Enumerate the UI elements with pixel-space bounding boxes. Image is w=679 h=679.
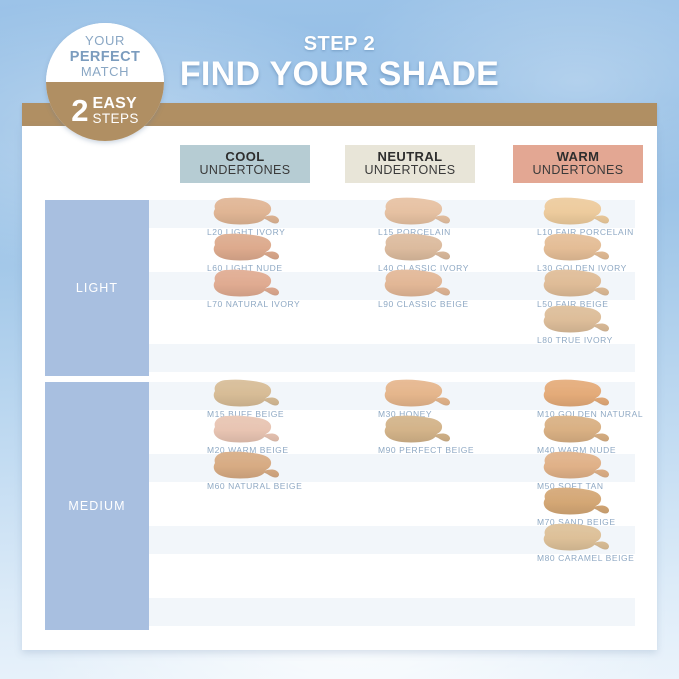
shade-swatch-icon — [378, 414, 464, 444]
shade-cell[interactable]: L40 CLASSIC IVORY — [378, 232, 538, 273]
undertone-header-title: NEUTRAL — [378, 150, 443, 164]
undertone-header-title: WARM — [557, 150, 600, 164]
shade-swatch-icon — [537, 232, 623, 262]
badge-your: YOUR — [85, 34, 125, 49]
category-block-light: LIGHT — [45, 200, 149, 376]
shade-swatch-icon — [537, 268, 623, 298]
shade-swatch-icon — [537, 304, 623, 334]
shade-cell[interactable]: L70 NATURAL IVORY — [207, 268, 367, 309]
shade-cell[interactable]: L60 LIGHT NUDE — [207, 232, 367, 273]
shade-cell[interactable]: L10 FAIR PORCELAIN — [537, 196, 679, 237]
shade-swatch-icon — [207, 378, 293, 408]
shade-cell[interactable]: M80 CARAMEL BEIGE — [537, 522, 679, 563]
undertone-header-cool: COOLUNDERTONES — [180, 145, 310, 183]
shade-swatch-icon — [537, 414, 623, 444]
badge-perfect: PERFECT — [70, 49, 140, 65]
badge-top: YOUR PERFECT MATCH — [46, 23, 164, 82]
shade-swatch-icon — [378, 268, 464, 298]
shade-cell[interactable]: M15 BUFF BEIGE — [207, 378, 367, 419]
shade-swatch-icon — [378, 196, 464, 226]
shade-cell[interactable]: L50 FAIR BEIGE — [537, 268, 679, 309]
shade-cell[interactable]: L80 TRUE IVORY — [537, 304, 679, 345]
shade-swatch-icon — [207, 414, 293, 444]
shade-swatch-icon — [207, 196, 293, 226]
undertone-header-warm: WARMUNDERTONES — [513, 145, 643, 183]
shade-swatch-icon — [207, 268, 293, 298]
shade-cell[interactable]: M10 GOLDEN NATURAL — [537, 378, 679, 419]
shade-cell[interactable]: L90 CLASSIC BEIGE — [378, 268, 538, 309]
undertone-header-subtitle: UNDERTONES — [532, 164, 623, 178]
perfect-match-badge: YOUR PERFECT MATCH 2 EASY STEPS — [46, 23, 164, 141]
shade-cell[interactable]: M60 NATURAL BEIGE — [207, 450, 367, 491]
shade-swatch-icon — [537, 522, 623, 552]
shade-cell[interactable]: L15 PORCELAIN — [378, 196, 538, 237]
shade-cell[interactable]: L30 GOLDEN IVORY — [537, 232, 679, 273]
shade-cell[interactable]: L20 LIGHT IVORY — [207, 196, 367, 237]
shade-swatch-icon — [207, 232, 293, 262]
shade-cell[interactable]: M30 HONEY — [378, 378, 538, 419]
undertone-header-subtitle: UNDERTONES — [199, 164, 290, 178]
badge-number: 2 — [71, 95, 88, 126]
shade-cell[interactable]: M20 WARM BEIGE — [207, 414, 367, 455]
shade-swatch-icon — [207, 450, 293, 480]
badge-bottom: 2 EASY STEPS — [46, 82, 164, 141]
shade-name-label: L70 NATURAL IVORY — [207, 299, 367, 309]
badge-easy: EASY — [92, 96, 136, 112]
shade-swatch-icon — [378, 378, 464, 408]
undertone-header-title: COOL — [225, 150, 264, 164]
shade-cell[interactable]: M50 SOFT TAN — [537, 450, 679, 491]
badge-steps: STEPS — [92, 112, 138, 126]
shade-cell[interactable]: M70 SAND BEIGE — [537, 486, 679, 527]
shade-swatch-icon — [378, 232, 464, 262]
shade-swatch-icon — [537, 450, 623, 480]
shade-cell[interactable]: M40 WARM NUDE — [537, 414, 679, 455]
shade-swatch-icon — [537, 196, 623, 226]
badge-match: MATCH — [81, 65, 129, 80]
undertone-header-subtitle: UNDERTONES — [364, 164, 455, 178]
shade-name-label: L90 CLASSIC BEIGE — [378, 299, 538, 309]
shade-name-label: M60 NATURAL BEIGE — [207, 481, 367, 491]
shade-swatch-icon — [537, 378, 623, 408]
undertone-header-neutral: NEUTRALUNDERTONES — [345, 145, 475, 183]
shade-name-label: L80 TRUE IVORY — [537, 335, 679, 345]
shade-name-label: M90 PERFECT BEIGE — [378, 445, 538, 455]
category-block-medium: MEDIUM — [45, 382, 149, 630]
badge-easy-steps: EASY STEPS — [92, 96, 138, 126]
shade-name-label: M80 CARAMEL BEIGE — [537, 553, 679, 563]
shade-swatch-icon — [537, 486, 623, 516]
shade-cell[interactable]: M90 PERFECT BEIGE — [378, 414, 538, 455]
